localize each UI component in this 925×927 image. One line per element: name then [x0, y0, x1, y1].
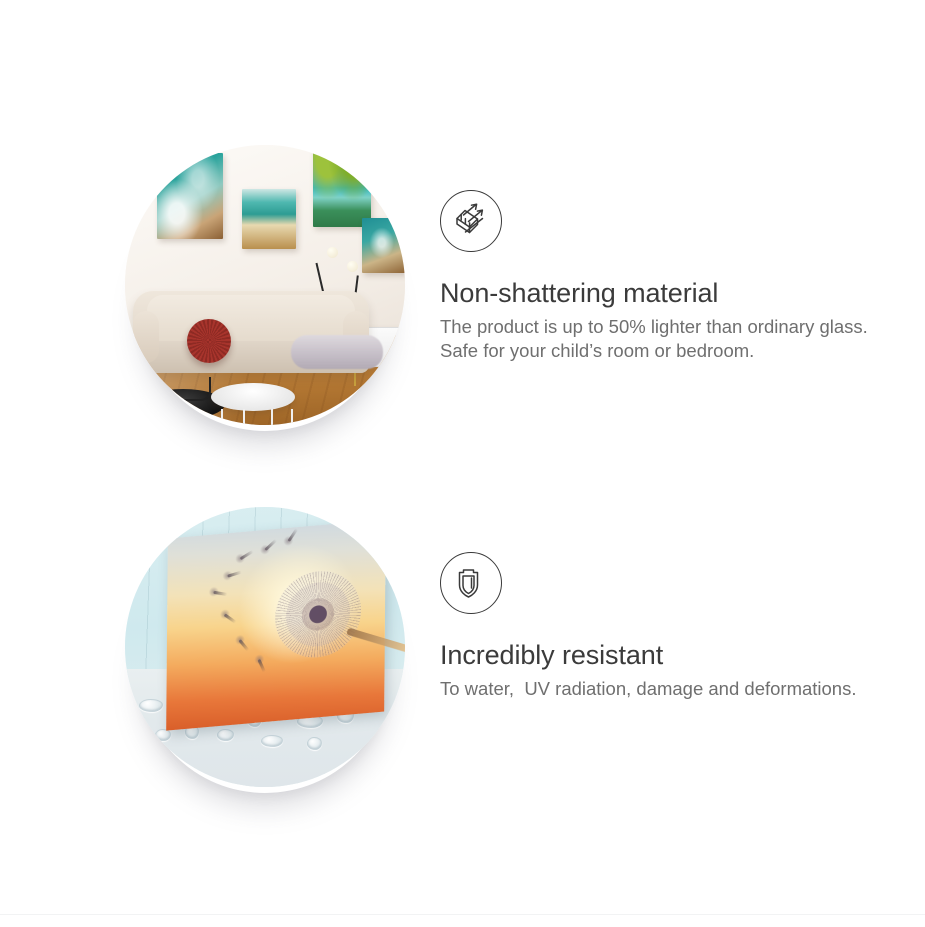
floating-seed	[257, 659, 265, 673]
wall-art-wave-large	[157, 153, 223, 239]
lamp-bulb	[327, 247, 338, 258]
white-side-table	[211, 383, 295, 411]
sofa-arm-left	[133, 311, 159, 363]
table-leg	[221, 409, 223, 425]
floating-seed	[238, 639, 249, 651]
floating-seed	[213, 591, 227, 596]
water-drop	[307, 737, 322, 750]
wall-art-palm	[313, 145, 371, 227]
floating-seed	[240, 550, 254, 560]
floating-seed	[287, 528, 298, 542]
living-room-wall-art-photo	[125, 145, 405, 425]
living-room-photo-wrapper	[110, 143, 410, 443]
table-leg	[243, 409, 245, 425]
water-drop	[261, 735, 283, 747]
water-drop	[217, 729, 234, 741]
round-red-pillow	[187, 319, 231, 363]
bottom-divider	[0, 914, 925, 915]
feature-text-column: Non-shattering material The product is u…	[440, 143, 880, 364]
lamp-bulb	[347, 261, 358, 272]
floating-seed	[227, 571, 241, 578]
feature-title: Incredibly resistant	[440, 641, 880, 671]
feature-text-column: Incredibly resistant To water, UV radiat…	[440, 505, 880, 701]
wire-basket	[139, 377, 211, 401]
floating-seed	[224, 613, 237, 623]
dandelion-canvas-water-drops-photo	[125, 507, 405, 787]
dandelion-scene	[125, 507, 405, 787]
feature-block-incredibly-resistant: Incredibly resistant To water, UV radiat…	[0, 505, 880, 805]
table-leg	[291, 409, 293, 425]
grey-fur-throw	[291, 335, 383, 369]
wall-art-beach	[242, 189, 296, 249]
feature-description: The product is up to 50% lighter than or…	[440, 315, 870, 365]
shield-icon	[440, 552, 502, 614]
water-drop	[155, 729, 171, 741]
dandelion-canvas-print	[166, 519, 386, 730]
dandelion-seed-rays	[275, 568, 362, 662]
table-leg	[271, 409, 273, 425]
floating-seed	[264, 539, 277, 551]
room-scene	[125, 145, 405, 425]
dandelion-photo-wrapper	[110, 505, 410, 805]
feature-description: To water, UV radiation, damage and defor…	[440, 677, 870, 702]
feature-block-non-shattering: Non-shattering material The product is u…	[0, 143, 880, 443]
feature-title: Non-shattering material	[440, 279, 880, 309]
product-features-page: Non-shattering material The product is u…	[0, 0, 925, 927]
flexible-layers-arrows-icon	[440, 190, 502, 252]
water-drop	[139, 699, 163, 712]
